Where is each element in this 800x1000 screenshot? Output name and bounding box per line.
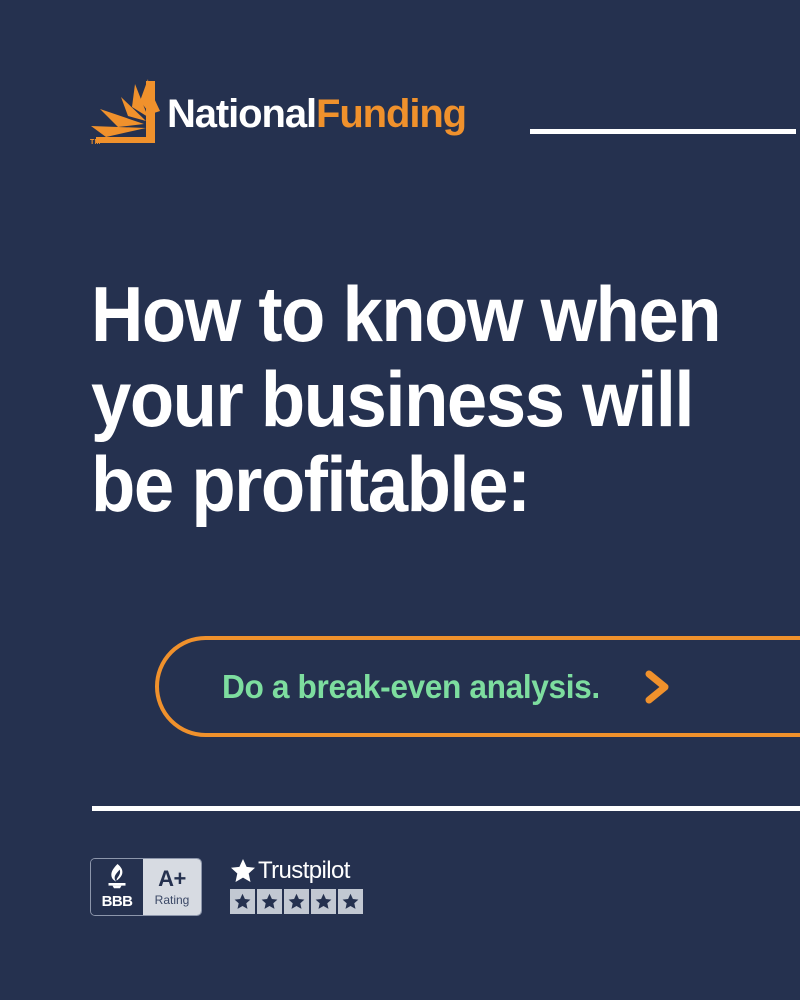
trustpilot-wordmark: Trustpilot bbox=[230, 858, 350, 883]
trustpilot-name: Trustpilot bbox=[258, 859, 350, 883]
bbb-logo-panel: BBB bbox=[91, 859, 143, 915]
page-title: How to know when your business will be p… bbox=[91, 272, 705, 527]
trust-badges: BBB A+ Rating Trustpilot bbox=[90, 858, 363, 916]
trustpilot-star-icon bbox=[230, 858, 256, 883]
brand-logo[interactable]: TM NationalFunding bbox=[88, 72, 466, 158]
bbb-accredited-badge[interactable]: BBB A+ Rating bbox=[90, 858, 202, 916]
trademark-symbol: TM bbox=[90, 139, 101, 146]
cta-label: Do a break-even analysis. bbox=[222, 670, 600, 703]
trustpilot-star-3 bbox=[284, 889, 309, 914]
bbb-rating-label: Rating bbox=[155, 894, 190, 906]
headline-line-2: your business will bbox=[91, 357, 705, 442]
trustpilot-star-rating bbox=[230, 889, 363, 914]
cta-button[interactable]: Do a break-even analysis. bbox=[155, 636, 800, 737]
brand-name-national: National bbox=[167, 92, 316, 136]
brand-wordmark: NationalFunding bbox=[167, 94, 466, 136]
social-card: TM NationalFunding How to know when your… bbox=[0, 0, 800, 1000]
trustpilot-star-4 bbox=[311, 889, 336, 914]
trustpilot-badge[interactable]: Trustpilot bbox=[230, 858, 363, 914]
starburst-icon: TM bbox=[88, 75, 170, 155]
bbb-rating-panel: A+ Rating bbox=[143, 859, 201, 915]
brand-name-funding: Funding bbox=[316, 92, 466, 136]
header-divider-rule bbox=[530, 129, 796, 134]
trustpilot-star-5 bbox=[338, 889, 363, 914]
chevron-right-icon bbox=[642, 669, 672, 705]
headline-line-1: How to know when bbox=[91, 272, 705, 357]
trustpilot-star-2 bbox=[257, 889, 282, 914]
bbb-torch-icon bbox=[104, 863, 130, 893]
footer-divider-rule bbox=[92, 806, 800, 811]
bbb-letters: BBB bbox=[102, 894, 133, 909]
bbb-grade: A+ bbox=[158, 868, 186, 890]
headline-line-3: be profitable: bbox=[91, 442, 705, 527]
header: TM NationalFunding bbox=[0, 72, 800, 158]
trustpilot-star-1 bbox=[230, 889, 255, 914]
